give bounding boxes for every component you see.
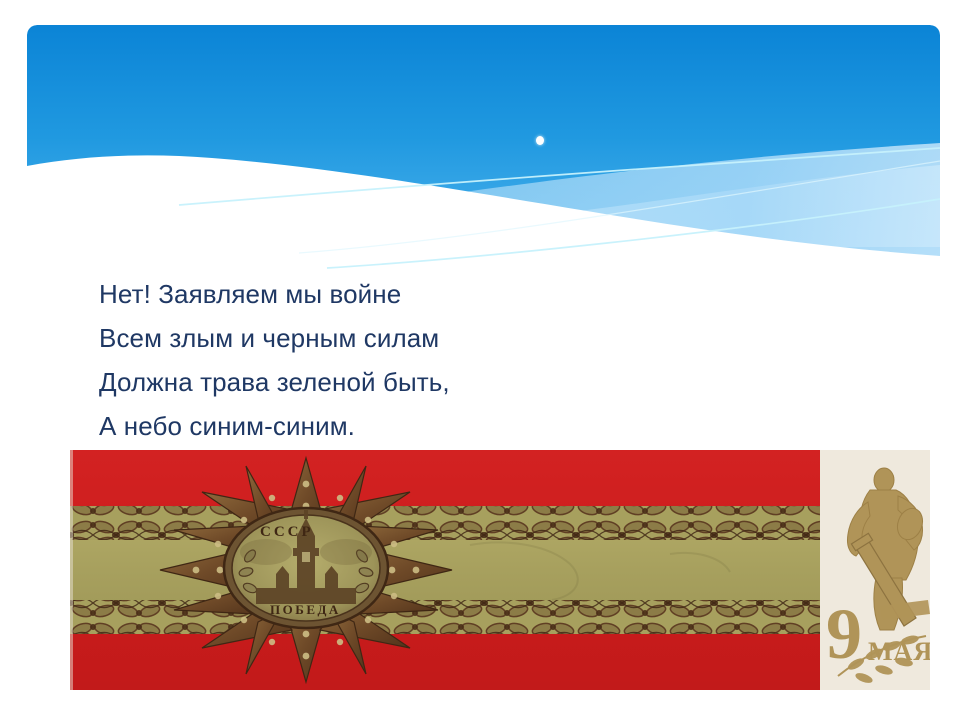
banner-wave-graphic xyxy=(27,25,940,275)
victory-day-order-of-victory-photo: СССР ПОБЕДА xyxy=(70,450,930,690)
poem-line-1: Нет! Заявляем мы войне xyxy=(99,272,529,316)
bullet-dot-icon xyxy=(536,136,544,145)
decorative-blue-wave-banner xyxy=(27,25,940,275)
poem-line-3: Должна трава зеленой быть, xyxy=(99,360,529,404)
poem-line-4: А небо синим-синим. xyxy=(99,404,529,448)
medal-inscription-bottom: ПОБЕДА xyxy=(270,602,341,617)
presentation-slide: Нет! Заявляем мы войне Всем злым и черны… xyxy=(0,0,960,720)
poem-text-block: Нет! Заявляем мы войне Всем злым и черны… xyxy=(99,272,529,448)
poem-line-2: Всем злым и черным силам xyxy=(99,316,529,360)
victory-postcard-graphic: СССР ПОБЕДА xyxy=(70,450,930,690)
medal-inscription-top: СССР xyxy=(260,524,314,540)
